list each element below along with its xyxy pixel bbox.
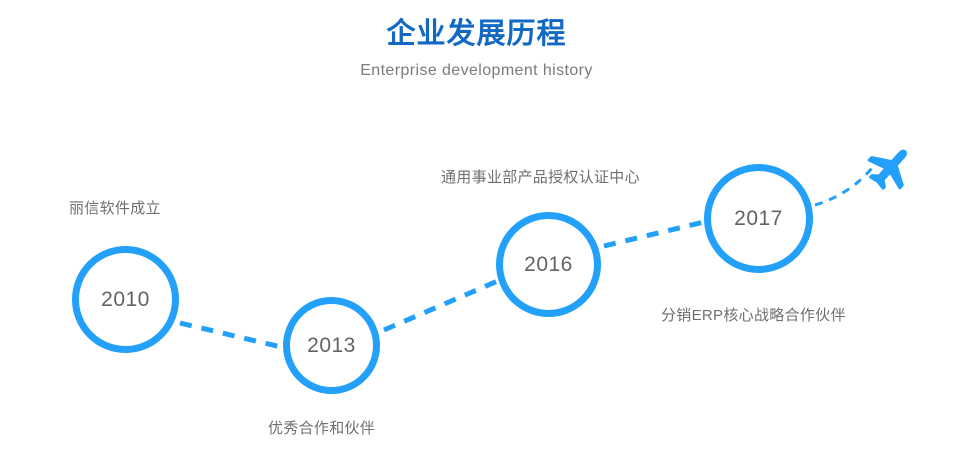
milestone-node-2010[interactable]: 2010 <box>72 246 179 353</box>
airplane-icon <box>862 142 918 194</box>
milestone-year: 2013 <box>307 335 356 356</box>
timeline-infographic: 企业发展历程 Enterprise development history 20… <box>0 0 953 472</box>
milestone-node-2017[interactable]: 2017 <box>704 164 813 273</box>
milestone-year: 2017 <box>734 208 783 229</box>
milestone-caption-2013: 优秀合作和伙伴 <box>268 418 375 440</box>
connector-2013-2016 <box>384 280 500 330</box>
milestone-caption-2010: 丽信软件成立 <box>69 198 161 220</box>
milestone-caption-2017: 分销ERP核心战略合作伙伴 <box>661 305 846 327</box>
connector-2010-2013 <box>180 323 281 347</box>
connector-2016-2017 <box>604 222 704 246</box>
milestone-year: 2016 <box>524 254 573 275</box>
milestone-node-2016[interactable]: 2016 <box>496 212 601 317</box>
milestone-node-2013[interactable]: 2013 <box>283 297 380 394</box>
milestone-caption-2016: 通用事业部产品授权认证中心 <box>441 167 640 189</box>
milestone-year: 2010 <box>101 289 150 310</box>
